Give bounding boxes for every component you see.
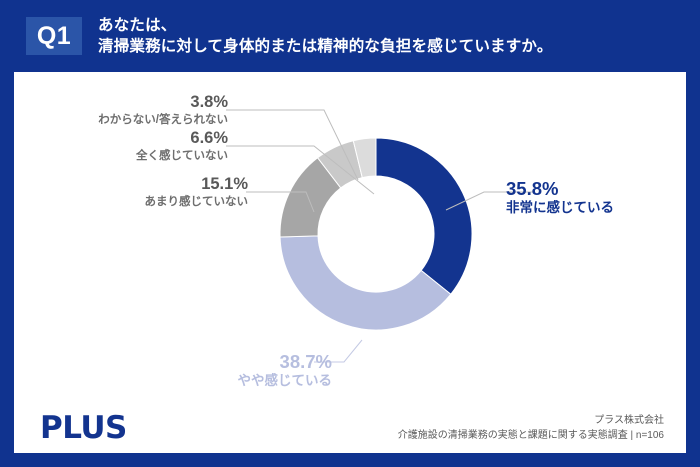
- label-some-pct: 38.7%: [182, 350, 332, 373]
- donut-slice-1: [280, 236, 451, 330]
- label-little-name: あまり感じていない: [145, 195, 249, 209]
- label-little: 15.1% あまり感じていない: [145, 174, 249, 209]
- label-unknown: 3.8% わからない/答えられない: [98, 92, 228, 127]
- label-some: 38.7% やや感じている: [182, 350, 332, 390]
- label-some-name: やや感じている: [182, 373, 332, 390]
- company-name: プラス株式会社: [398, 413, 664, 428]
- label-very-pct: 35.8%: [506, 177, 614, 200]
- donut-slices: [280, 138, 472, 330]
- label-unknown-pct: 3.8%: [98, 92, 228, 113]
- label-very: 35.8% 非常に感じている: [506, 177, 614, 217]
- label-none: 6.6% 全く感じていない: [136, 128, 228, 163]
- footer: PLUS プラス株式会社 介護施設の清掃業務の実態と課題に関する実態調査 | n…: [14, 402, 686, 453]
- header: Q1 あなたは、 清掃業務に対して身体的または精神的な負担を感じていますか。: [0, 0, 700, 72]
- label-none-name: 全く感じていない: [136, 149, 228, 163]
- chart-card: 3.8% わからない/答えられない 6.6% 全く感じていない 15.1% あま…: [14, 72, 686, 453]
- question-title: あなたは、 清掃業務に対して身体的または精神的な負担を感じていますか。: [98, 15, 553, 58]
- question-line-2: 清掃業務に対して身体的または精神的な負担を感じていますか。: [98, 36, 553, 57]
- survey-credit: プラス株式会社 介護施設の清掃業務の実態と課題に関する実態調査 | n=106: [398, 413, 664, 443]
- label-none-pct: 6.6%: [136, 128, 228, 149]
- donut-chart: [276, 134, 476, 334]
- survey-name: 介護施設の清掃業務の実態と課題に関する実態調査 | n=106: [398, 428, 664, 443]
- label-little-pct: 15.1%: [145, 174, 249, 195]
- question-number-badge: Q1: [26, 17, 82, 55]
- donut-slice-0: [376, 138, 472, 294]
- question-line-1: あなたは、: [98, 15, 553, 36]
- label-very-name: 非常に感じている: [506, 200, 614, 217]
- label-unknown-name: わからない/答えられない: [98, 113, 228, 127]
- chart-area: 3.8% わからない/答えられない 6.6% 全く感じていない 15.1% あま…: [14, 72, 686, 402]
- plus-logo: PLUS: [40, 410, 127, 446]
